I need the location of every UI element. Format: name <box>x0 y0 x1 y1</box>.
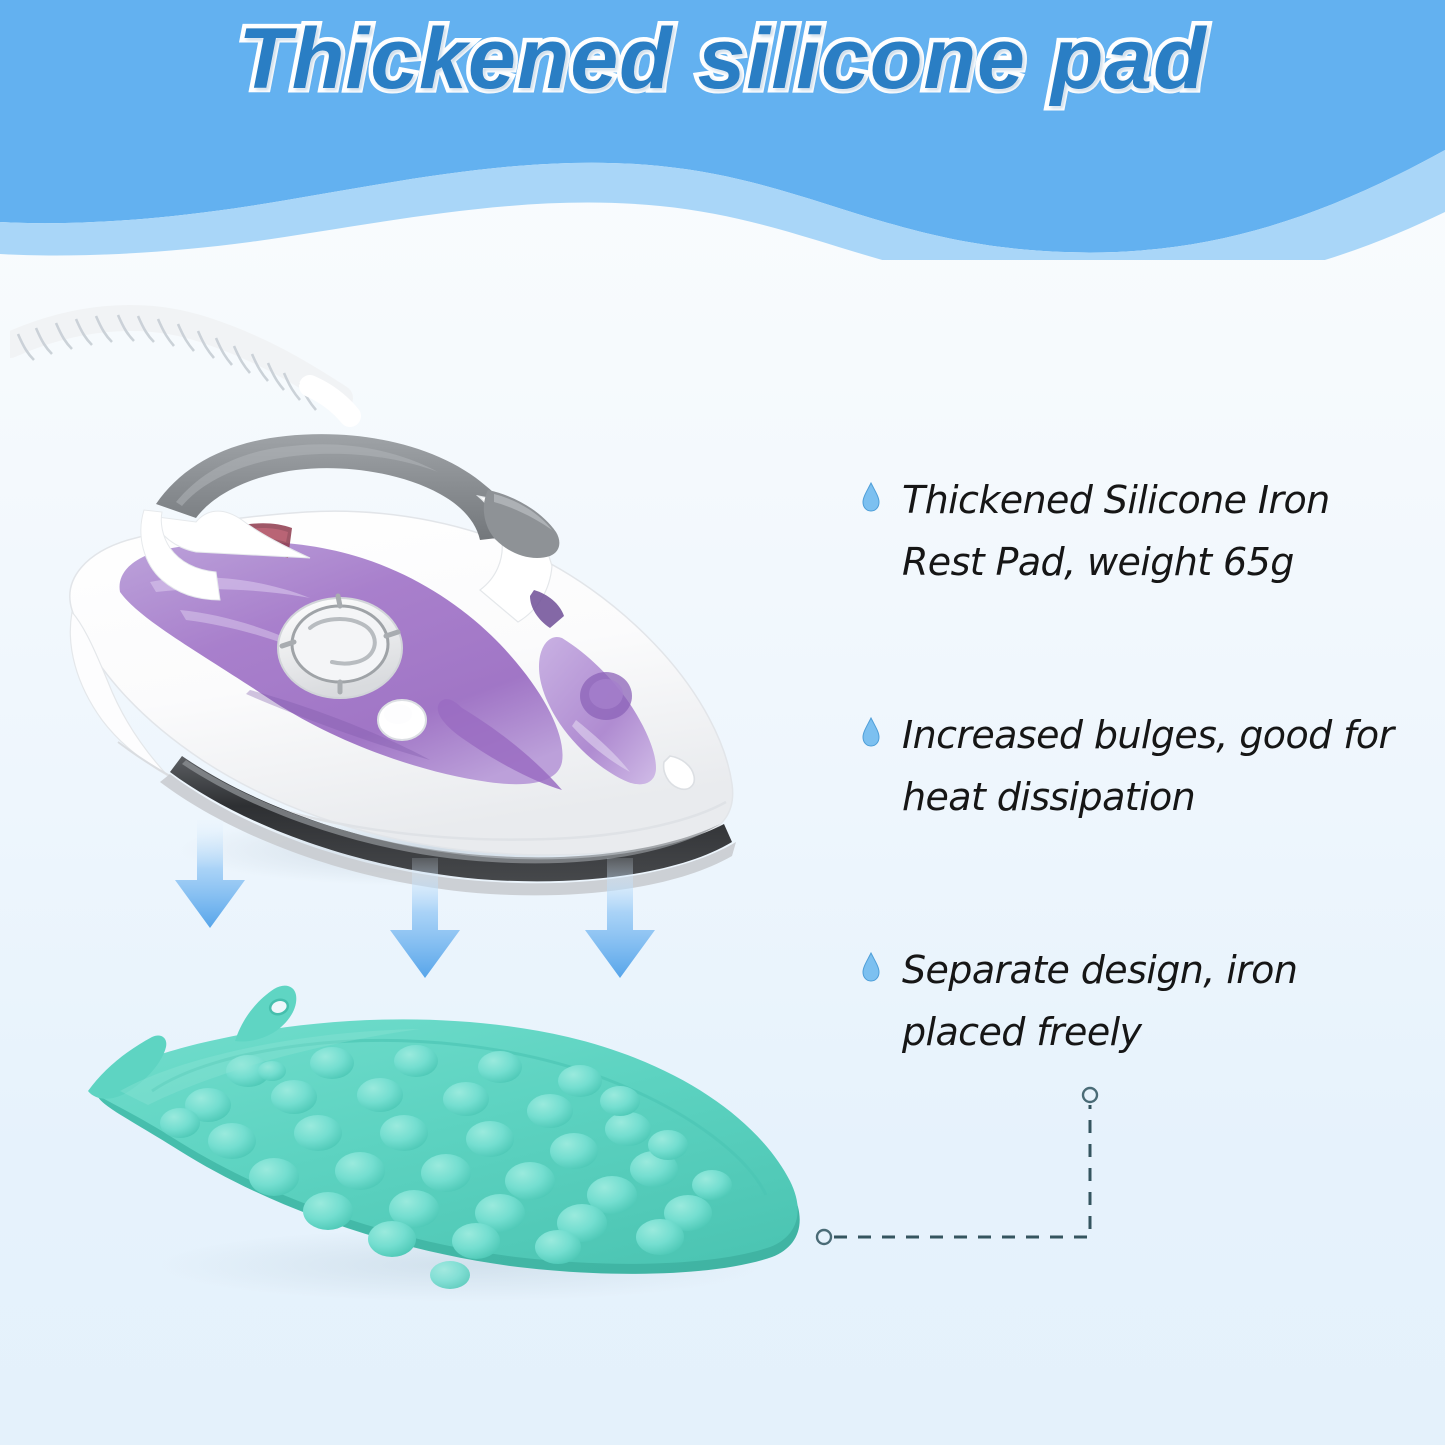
feature-text-bulges: Increased bulges, good for heat dissipat… <box>902 705 1422 828</box>
steam-control-dial <box>278 596 402 698</box>
power-cord <box>10 315 350 416</box>
callout-endpoint-left <box>817 1230 831 1244</box>
feature-item-bulges: Increased bulges, good for heat dissipat… <box>862 705 1422 828</box>
arrow-down-1 <box>175 820 245 928</box>
water-drop-icon <box>862 717 880 747</box>
steam-iron-illustration <box>10 290 800 910</box>
feature-text-separate: Separate design, iron placed freely <box>902 940 1422 1063</box>
spray-button-gloss <box>384 704 412 724</box>
water-window-cap-inner <box>589 679 623 709</box>
feature-item-separate: Separate design, iron placed freely <box>862 940 1422 1063</box>
silicone-pad-illustration <box>60 945 860 1305</box>
feature-text-weight: Thickened Silicone Iron Rest Pad, weight… <box>902 470 1422 593</box>
feature-list: Thickened Silicone Iron Rest Pad, weight… <box>862 470 1422 1063</box>
product-infographic: Thickened silicone pad <box>0 0 1445 1445</box>
feature-item-weight: Thickened Silicone Iron Rest Pad, weight… <box>862 470 1422 593</box>
water-drop-icon <box>862 482 880 512</box>
water-drop-icon <box>862 952 880 982</box>
page-title: Thickened silicone pad <box>0 6 1445 114</box>
callout-leader-line <box>790 1085 1140 1275</box>
callout-endpoint-top <box>1083 1088 1097 1102</box>
callout-dashed-path <box>834 1105 1090 1237</box>
